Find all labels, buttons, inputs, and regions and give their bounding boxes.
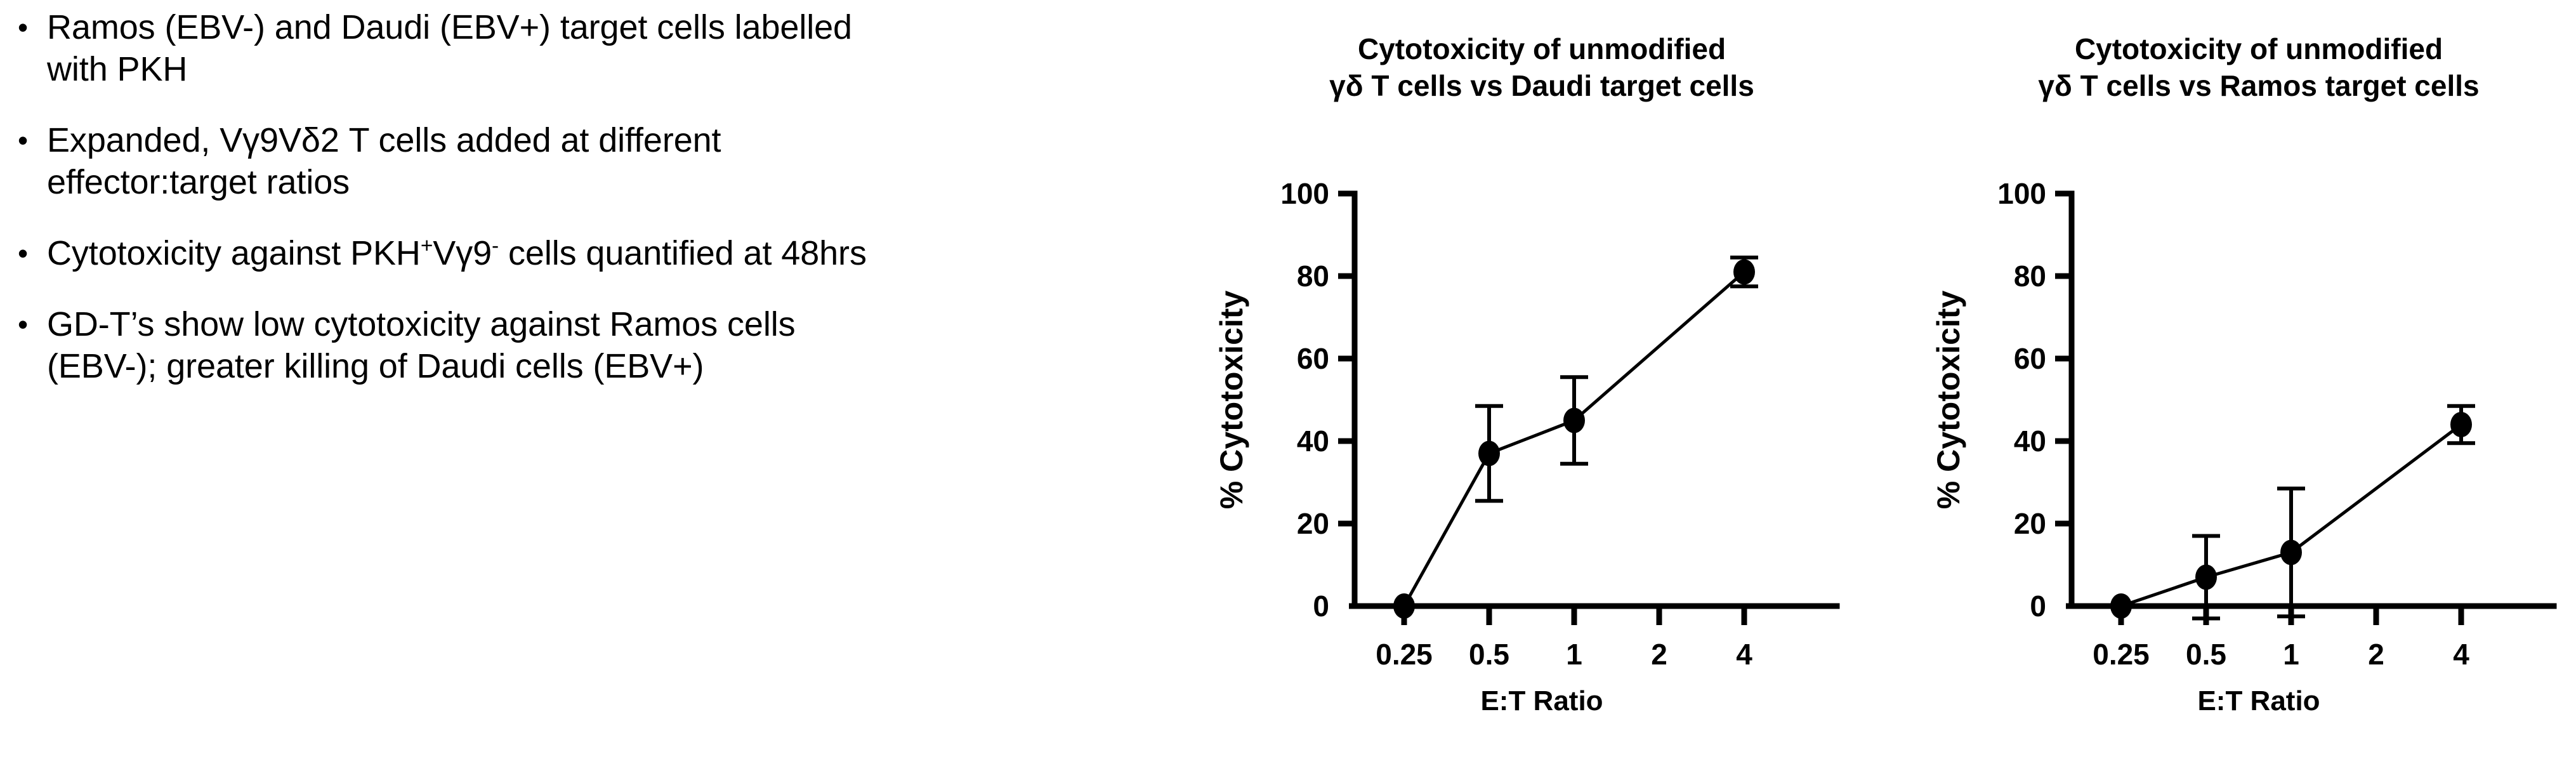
y-tick-label: 0 <box>2030 590 2046 623</box>
bullet-line: with PKH <box>47 50 187 88</box>
y-tick-label: 60 <box>1297 342 1329 375</box>
chart-title-line2: γδ T cells vs Daudi target cells <box>1193 67 1891 104</box>
y-tick-label: 20 <box>2014 507 2046 540</box>
data-point-marker <box>2450 412 2472 437</box>
x-tick-label: 0.5 <box>2186 638 2226 671</box>
x-tick-label: 2 <box>2368 638 2384 671</box>
x-tick-label: 0.5 <box>1469 638 1509 671</box>
bullet-text-target-cells: Ramos (EBV-) and Daudi (EBV+) target cel… <box>47 6 1153 90</box>
data-point-marker <box>1563 408 1585 433</box>
bullet-list: • Ramos (EBV-) and Daudi (EBV+) target c… <box>18 6 1153 416</box>
y-axis-label: % Cytotoxicity <box>1931 291 1966 510</box>
y-tick-label: 100 <box>1997 177 2046 210</box>
data-point-marker <box>1733 260 1755 285</box>
x-tick-label: 4 <box>2453 638 2469 671</box>
bullet-marker-icon: • <box>18 119 47 161</box>
y-tick-label: 100 <box>1280 177 1329 210</box>
bullet-fragment-post: cells quantified at 48hrs <box>499 234 867 272</box>
x-tick-label: 4 <box>1736 638 1752 671</box>
data-point-marker <box>1478 441 1500 466</box>
x-tick-label: 0.25 <box>2093 638 2150 671</box>
chart-title-line1: Cytotoxicity of unmodified <box>2075 32 2443 65</box>
plot-group-1: 0204060801000.250.5124% Cytotoxicity <box>1931 177 2554 671</box>
superscript-plus: + <box>421 234 433 258</box>
chart-ramos-xlabel: E:T Ratio <box>1910 685 2576 717</box>
chart-title-line1: Cytotoxicity of unmodified <box>1358 32 1726 65</box>
bullet-line: Ramos (EBV-) and Daudi (EBV+) target cel… <box>47 8 852 46</box>
plot-group-0: 0204060801000.250.5124% Cytotoxicity <box>1214 177 1837 671</box>
bullet-marker-icon: • <box>18 6 47 48</box>
bullet-fragment-pre: Cytotoxicity against PKH <box>47 234 421 272</box>
bullet-marker-icon: • <box>18 303 47 345</box>
bullet-text-quantified: Cytotoxicity against PKH+Vγ9- cells quan… <box>47 232 1153 274</box>
bullet-line: Expanded, Vγ9Vδ2 T cells added at differ… <box>47 121 721 159</box>
y-tick-label: 40 <box>2014 425 2046 458</box>
y-tick-label: 80 <box>1297 260 1329 293</box>
list-item: • Ramos (EBV-) and Daudi (EBV+) target c… <box>18 6 1153 90</box>
data-point-marker <box>2280 540 2302 565</box>
y-tick-label: 0 <box>1313 590 1329 623</box>
list-item: • Expanded, Vγ9Vδ2 T cells added at diff… <box>18 119 1153 203</box>
chart-ramos: Cytotoxicity of unmodified γδ T cells vs… <box>1910 0 2576 759</box>
y-tick-label: 40 <box>1297 425 1329 458</box>
chart-ramos-title: Cytotoxicity of unmodified γδ T cells vs… <box>1910 30 2576 104</box>
y-tick-label: 60 <box>2014 342 2046 375</box>
x-tick-label: 1 <box>2283 638 2299 671</box>
bullet-line: effector:target ratios <box>47 163 350 201</box>
bullet-line: (EBV-); greater killing of Daudi cells (… <box>47 347 704 385</box>
bullet-text-conclusion: GD-T’s show low cytotoxicity against Ram… <box>47 303 1153 387</box>
slide-canvas: • Ramos (EBV-) and Daudi (EBV+) target c… <box>0 0 2576 759</box>
chart-title-line2: γδ T cells vs Ramos target cells <box>1910 67 2576 104</box>
bullet-fragment-mid: Vγ9 <box>433 234 492 272</box>
list-item: • Cytotoxicity against PKH+Vγ9- cells qu… <box>18 232 1153 274</box>
y-tick-label: 20 <box>1297 507 1329 540</box>
chart-daudi-title: Cytotoxicity of unmodified γδ T cells vs… <box>1193 30 1891 104</box>
bullet-line: GD-T’s show low cytotoxicity against Ram… <box>47 305 796 343</box>
chart-daudi-xlabel: E:T Ratio <box>1193 685 1891 717</box>
bullet-text-effector-ratios: Expanded, Vγ9Vδ2 T cells added at differ… <box>47 119 1153 203</box>
chart-daudi: Cytotoxicity of unmodified γδ T cells vs… <box>1193 0 1891 759</box>
y-axis-label: % Cytotoxicity <box>1214 291 1249 510</box>
x-tick-label: 1 <box>1566 638 1582 671</box>
data-point-marker <box>2110 593 2132 619</box>
list-item: • GD-T’s show low cytotoxicity against R… <box>18 303 1153 387</box>
chart-ramos-plot: 0204060801000.250.5124% Cytotoxicity <box>1910 159 2576 685</box>
x-tick-label: 0.25 <box>1376 638 1433 671</box>
superscript-minus: - <box>492 234 499 258</box>
chart-daudi-plot: 0204060801000.250.5124% Cytotoxicity <box>1193 159 1891 685</box>
bullet-marker-icon: • <box>18 232 47 274</box>
x-tick-label: 2 <box>1651 638 1667 671</box>
y-tick-label: 80 <box>2014 260 2046 293</box>
data-point-marker <box>2195 565 2217 590</box>
data-point-marker <box>1393 593 1415 619</box>
